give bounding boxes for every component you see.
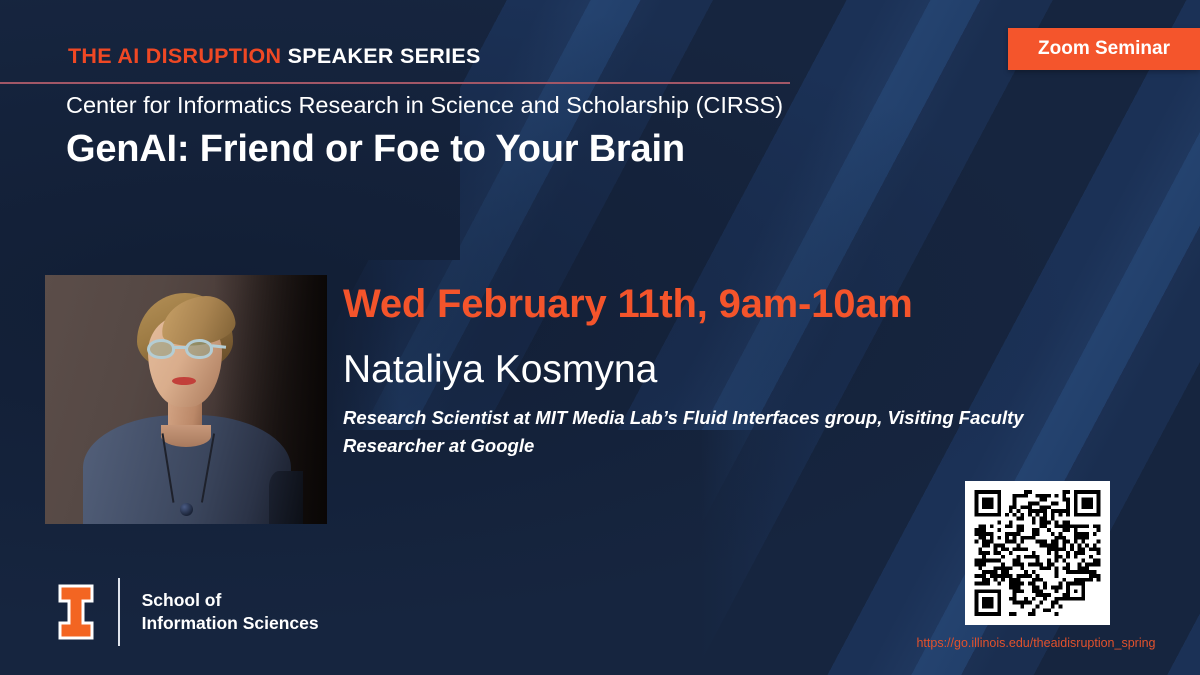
zoom-seminar-badge[interactable]: Zoom Seminar [1008,28,1200,70]
qr-code-icon[interactable] [965,481,1110,625]
speaker-series-label: THE AI DISRUPTION SPEAKER SERIES [68,44,481,69]
header-divider-rule [0,82,790,84]
logo-text: School of Information Sciences [142,589,319,636]
logo-divider [118,578,120,646]
series-accent-text: THE AI DISRUPTION [68,44,281,68]
photo-eyeglass-bridge [174,346,186,349]
photo-sleeve [269,471,303,524]
illinois-block-i-icon [58,584,94,640]
center-name: Center for Informatics Research in Scien… [66,92,783,119]
registration-url[interactable]: https://go.illinois.edu/theaidisruption_… [876,636,1196,650]
photo-collar [161,425,211,447]
photo-lips [172,377,196,385]
badge-label: Zoom Seminar [1038,38,1170,60]
series-rest-text: SPEAKER SERIES [288,44,481,68]
illinois-ischool-logo: School of Information Sciences [58,578,319,646]
speaker-affiliation: Research Scientist at MIT Media Lab’s Fl… [343,404,1113,460]
photo-pendant [180,503,193,516]
logo-line-2: Information Sciences [142,612,319,635]
speaker-name: Nataliya Kosmyna [343,348,657,392]
photo-eyeglass-right [185,339,213,359]
page-title: GenAI: Friend or Foe to Your Brain [66,128,685,171]
speaker-photo [45,275,327,524]
photo-eyeglass-left [147,339,175,359]
event-date-time: Wed February 11th, 9am-10am [343,282,913,327]
event-poster: THE AI DISRUPTION SPEAKER SERIES Center … [0,0,1200,675]
logo-line-1: School of [142,589,319,612]
